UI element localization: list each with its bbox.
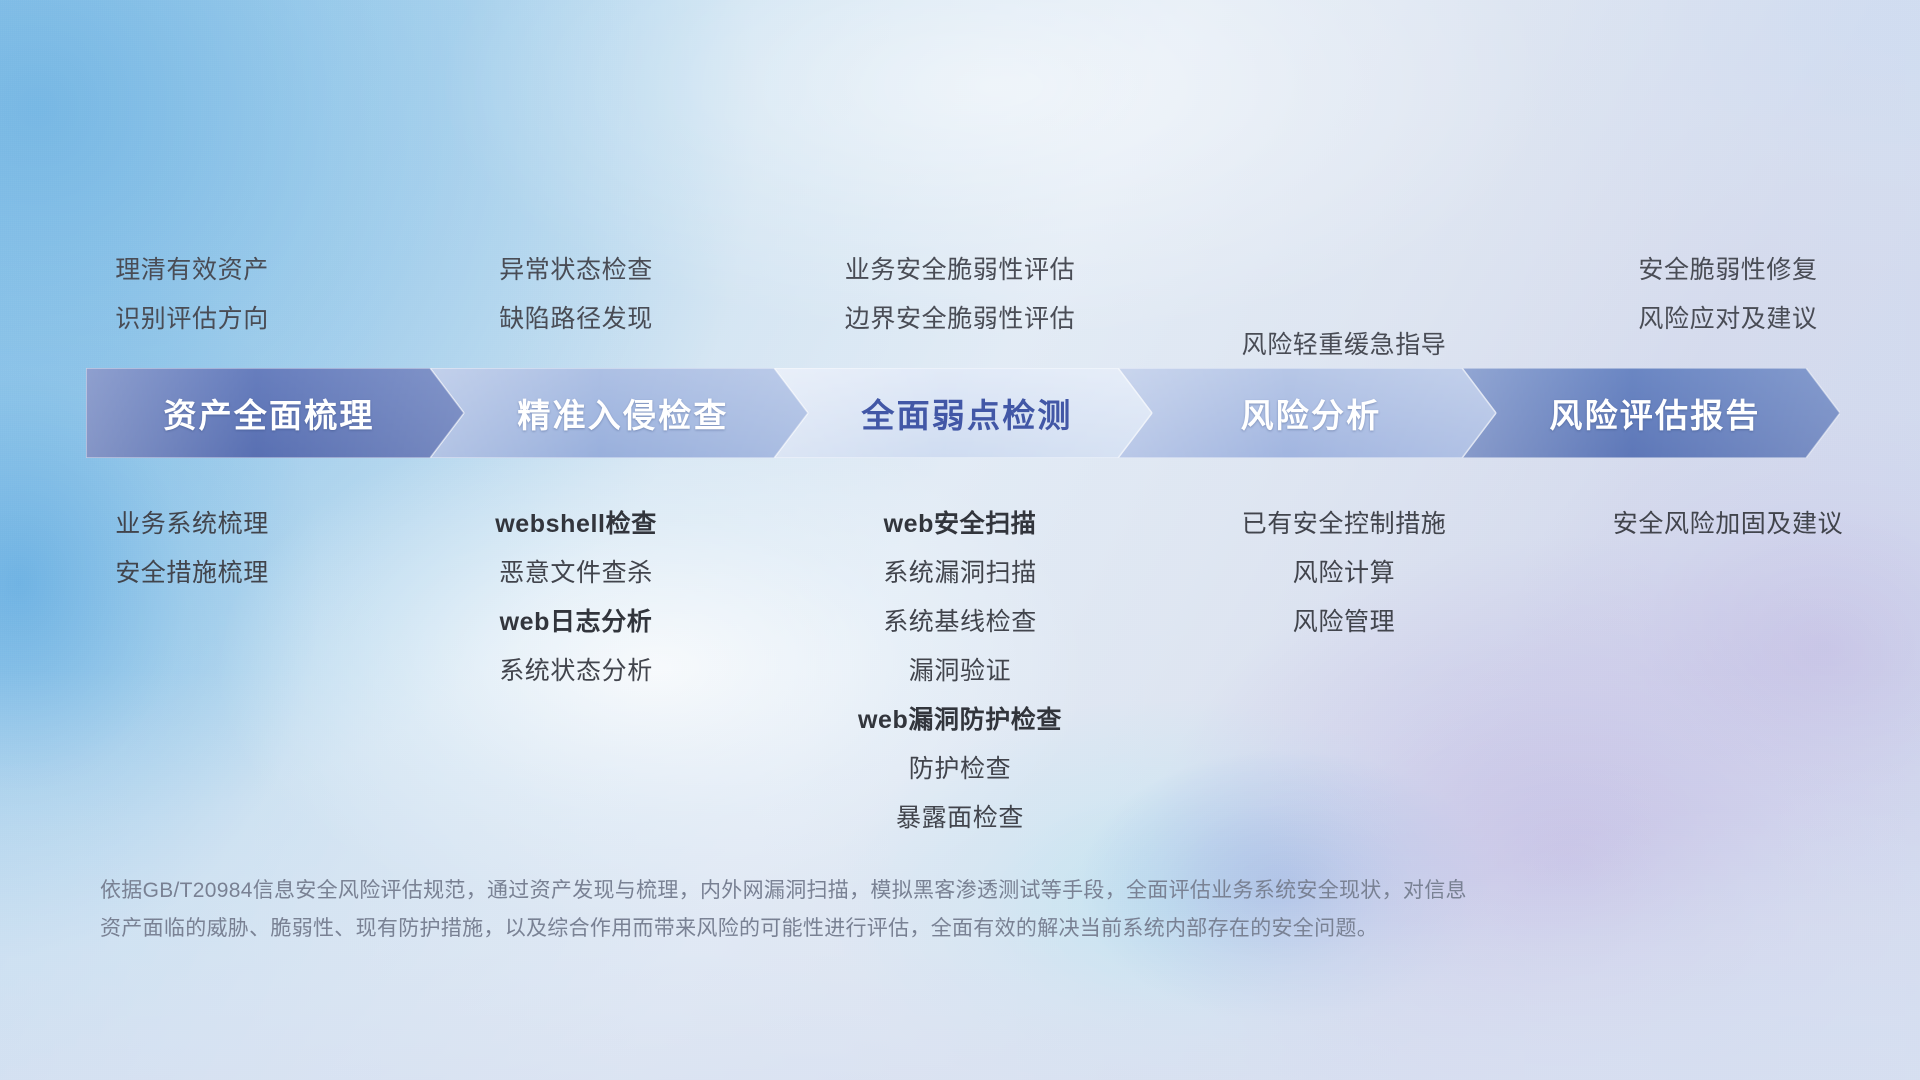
stage-bottom-item: 系统基线检查 (768, 598, 1152, 647)
stage-top-item: 边界安全脆弱性评估 (768, 295, 1152, 344)
stage-top-item: 异常状态检查 (384, 246, 768, 295)
stage-bottom-item: 恶意文件查杀 (384, 549, 768, 598)
stage-bottom-item: 系统状态分析 (384, 647, 768, 696)
stage-top-list-inner-asset-inventory: 理清有效资产识别评估方向 (0, 246, 384, 344)
footer-line-1: 依据GB/T20984信息安全风险评估规范，通过资产发现与梳理，内外网漏洞扫描，… (100, 872, 1730, 910)
slide-canvas: 资产全面梳理 精准入侵检查 (0, 0, 1920, 1080)
stage-bottom-item: 业务系统梳理 (0, 500, 384, 549)
stage-bottom-item: 安全措施梳理 (0, 549, 384, 598)
stage-top-item: 风险轻重缓急指导 (1152, 321, 1536, 370)
stage-top-item: 安全脆弱性修复 (1536, 246, 1920, 295)
stage-top-list-risk-report: 安全脆弱性修复风险应对及建议 (1536, 214, 1920, 344)
stage-top-list-intrusion-check: 异常状态检查缺陷路径发现 (384, 214, 768, 344)
process-stage-risk-analysis[interactable]: 风险分析 (1118, 368, 1496, 458)
process-stage-risk-report[interactable]: 风险评估报告 (1462, 368, 1840, 458)
stage-bottom-list-risk-analysis: 已有安全控制措施风险计算风险管理 (1152, 500, 1536, 647)
stage-bottom-item: 漏洞验证 (768, 647, 1152, 696)
process-stage-intrusion-check[interactable]: 精准入侵检查 (430, 368, 808, 458)
stage-top-item: 识别评估方向 (0, 295, 384, 344)
stage-bottom-list-asset-inventory: 业务系统梳理安全措施梳理 (0, 500, 384, 598)
stage-top-list-weakness-detection: 业务安全脆弱性评估边界安全脆弱性评估 (768, 214, 1152, 344)
footer-description: 依据GB/T20984信息安全风险评估规范，通过资产发现与梳理，内外网漏洞扫描，… (100, 872, 1730, 948)
stage-top-list-inner-weakness-detection: 业务安全脆弱性评估边界安全脆弱性评估 (768, 246, 1152, 344)
stage-title-intrusion-check: 精准入侵检查 (517, 389, 728, 437)
stage-bottom-item: 防护检查 (768, 745, 1152, 794)
stage-top-item: 风险应对及建议 (1536, 295, 1920, 344)
stage-bottom-item: web漏洞防护检查 (768, 696, 1152, 745)
stage-bottom-item: webshell检查 (384, 500, 768, 549)
stage-top-list-inner-risk-analysis: 风险轻重缓急指导 (1152, 321, 1536, 370)
stage-bottom-item: web日志分析 (384, 598, 768, 647)
stage-bottom-item: 已有安全控制措施 (1152, 500, 1536, 549)
process-stage-asset-inventory[interactable]: 资产全面梳理 (86, 368, 464, 458)
stage-bottom-item: 系统漏洞扫描 (768, 549, 1152, 598)
stage-bottom-item: 风险管理 (1152, 598, 1536, 647)
stage-bottom-item: 安全风险加固及建议 (1536, 500, 1920, 549)
stage-top-item: 缺陷路径发现 (384, 295, 768, 344)
stage-title-weakness-detection: 全面弱点检测 (861, 389, 1072, 437)
process-stage-weakness-detection[interactable]: 全面弱点检测 (774, 368, 1152, 458)
stage-bottom-list-risk-report: 安全风险加固及建议 (1536, 500, 1920, 549)
stage-top-list-inner-risk-report: 安全脆弱性修复风险应对及建议 (1536, 246, 1920, 344)
stage-bottom-list-intrusion-check: webshell检查恶意文件查杀web日志分析系统状态分析 (384, 500, 768, 696)
stage-top-item: 理清有效资产 (0, 246, 384, 295)
stage-title-risk-report: 风险评估报告 (1549, 389, 1760, 437)
stage-top-list-inner-intrusion-check: 异常状态检查缺陷路径发现 (384, 246, 768, 344)
stage-title-asset-inventory: 资产全面梳理 (163, 389, 374, 437)
stage-bottom-item: 风险计算 (1152, 549, 1536, 598)
stage-bottom-list-weakness-detection: web安全扫描系统漏洞扫描系统基线检查漏洞验证web漏洞防护检查防护检查暴露面检… (768, 500, 1152, 843)
stage-top-list-risk-analysis: 风险轻重缓急指导 (1152, 214, 1536, 344)
process-chevron-band: 资产全面梳理 精准入侵检查 (86, 368, 1840, 458)
footer-line-2: 资产面临的威胁、脆弱性、现有防护措施，以及综合作用而带来风险的可能性进行评估，全… (100, 910, 1730, 948)
stage-title-risk-analysis: 风险分析 (1241, 389, 1382, 437)
stage-bottom-item: web安全扫描 (768, 500, 1152, 549)
stage-top-list-asset-inventory: 理清有效资产识别评估方向 (0, 214, 384, 344)
stage-bottom-item: 暴露面检查 (768, 794, 1152, 843)
stage-top-item: 业务安全脆弱性评估 (768, 246, 1152, 295)
